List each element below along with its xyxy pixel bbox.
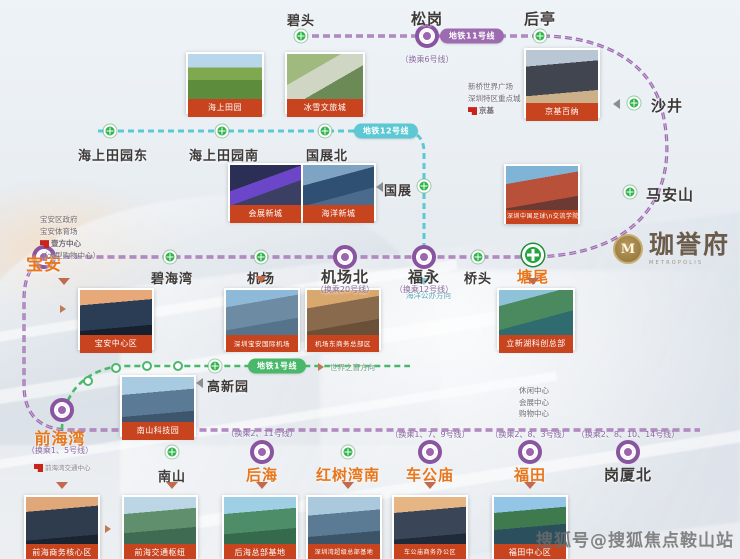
photo-caption: 京基百纳	[526, 103, 598, 121]
line-badge-1: 地铁1号线	[248, 359, 306, 374]
annotation-baoan-poi: 宝安区政府 宝安体育场 壹方中心 （大型购物中心）	[40, 214, 100, 262]
photo-card-baoan-zhongxinqu[interactable]: 宝安中心区	[78, 288, 154, 350]
shajing-arrow-icon	[613, 99, 620, 109]
poi-flag-icon	[34, 464, 43, 472]
station-futian[interactable]	[518, 440, 542, 464]
project-logo: M 珈誉府 METROPOLIS	[613, 232, 730, 266]
photo-caption: 宝安中心区	[80, 335, 152, 353]
poi-sub: （大型购物中心）	[40, 251, 100, 260]
photo-card-jingji-baihuo[interactable]: 京基百纳	[524, 48, 600, 118]
photo-caption: 立新湖科创总部	[499, 335, 573, 353]
photo-card-jichangdong-biz[interactable]: 机场东商务总部区	[305, 288, 381, 350]
line-badge-12: 地铁12号线	[354, 124, 418, 139]
station-houting[interactable]	[534, 30, 547, 43]
station-label-gangxiabei: 岗厦北	[604, 464, 652, 485]
station-label-houting: 后亭	[524, 8, 556, 29]
direction-arrow-line1	[318, 363, 324, 371]
photo-card-qianhai-hub[interactable]: 前海交通枢纽	[122, 495, 198, 559]
photo-card-haishang-tianyuan[interactable]: 海上田园	[186, 52, 264, 114]
pointer-arrow-jichang	[255, 276, 267, 283]
annotation-line: 会展中心	[519, 397, 549, 409]
poi-name: 京基	[479, 105, 494, 117]
logo-name-zh: 珈誉府	[649, 232, 730, 257]
photo-caption: 后海总部基地	[224, 544, 296, 559]
photo-card-baoan-airport[interactable]: 深圳宝安国际机场	[224, 288, 300, 350]
station-gangxiabei[interactable]	[616, 440, 640, 464]
station-sub-chegongmiao: （换乘1、7、9号线）	[390, 429, 469, 440]
station-haishang-tianyuan-dong[interactable]	[104, 125, 117, 138]
station-shajing[interactable]	[628, 97, 641, 110]
pointer-arrow-baoan	[58, 278, 70, 285]
station-tangwei[interactable]	[522, 244, 544, 266]
photo-caption: 冰雪文旅城	[287, 99, 363, 117]
poi-name: 前海湾交通中心	[45, 463, 91, 473]
station-sub-qianhaiwan: （换乘1、5号线）	[27, 445, 93, 456]
line-badge-11: 地铁11号线	[440, 29, 504, 44]
pointer-arrow-futian	[524, 482, 536, 489]
logo-name-en: METROPOLIS	[649, 260, 730, 266]
pointer-arrow-baoan-card	[60, 305, 66, 313]
station-sub-futian: （换乘2、8、3号线）	[490, 429, 569, 440]
photo-card-bingxue-wenlvcheng[interactable]: 冰雪文旅城	[285, 52, 365, 114]
pointer-arrow-qianhai-cbd	[105, 525, 111, 533]
photo-card-nanshan-keji[interactable]: 南山科技园	[120, 375, 196, 437]
annotation-line: 深圳特区重点城	[468, 93, 521, 105]
station-label-shajing: 沙井	[651, 95, 683, 116]
station-sub-jichangbei: （换乘20号线）	[316, 284, 374, 295]
photo-card-chegongmiao-biz[interactable]: 车公庙商务办公区	[392, 495, 468, 559]
photo-caption: 机场东商务总部区	[307, 335, 379, 352]
station-sub-gangxiabei: （换乘2、8、10、14号线）	[577, 429, 680, 440]
photo-caption: 前海交通枢纽	[124, 544, 196, 559]
station-label-gaoxinyuan: 高新园	[207, 376, 249, 395]
annotation-qianhaiwan-poi: 前海湾交通中心	[34, 462, 91, 473]
photo-card-fenghuang-tiyu[interactable]: 深圳中国足球\n交流学院	[504, 164, 580, 224]
station-bihaiwan[interactable]	[164, 251, 177, 264]
pointer-arrow-hongshuwannan	[342, 482, 354, 489]
station-label-maanshan: 马安山	[646, 184, 694, 205]
station-hongshuwannan[interactable]	[342, 446, 355, 459]
station-guozhanbei[interactable]	[319, 125, 332, 138]
station-houhai[interactable]	[250, 440, 274, 464]
photo-card-shenzhenbay-hq[interactable]: 深圳湾超级总部基地	[306, 495, 382, 559]
annotation-line: 宝安体育场	[40, 226, 100, 238]
photo-caption: 深圳湾超级总部基地	[308, 544, 380, 559]
annotation-line: 宝安区政府	[40, 214, 100, 226]
station-nanshan[interactable]	[166, 446, 179, 459]
photo-caption: 前海商务核心区	[26, 544, 98, 559]
station-guozhan[interactable]	[418, 180, 431, 193]
pointer-arrow-nanshan	[166, 482, 178, 489]
annotation-line: 购物中心	[519, 408, 549, 420]
logo-seal-icon: M	[613, 234, 643, 264]
watermark: 搜狐号@搜狐焦点鞍山站	[536, 526, 734, 551]
station-qianhaiwan[interactable]	[50, 398, 74, 422]
direction-note-line1: 世界之窗方向	[330, 362, 375, 373]
pointer-arrow-qianhaiwan	[56, 482, 68, 489]
annotation-line: 休闲中心	[519, 385, 549, 397]
annotation-xinqiao-poi: 新桥世界广场 深圳特区重点城 京基	[468, 81, 521, 117]
photo-caption: 南山科技园	[122, 422, 194, 440]
station-label-biyatou: 碧头	[287, 10, 315, 29]
annotation-line: 新桥世界广场	[468, 81, 521, 93]
photo-card-huizhan-haiyang[interactable]: 会展新城 海洋新城	[228, 163, 376, 221]
station-label-guozhan: 国展	[384, 180, 412, 199]
photo-card-houhai-hq[interactable]: 后海总部基地	[222, 495, 298, 559]
photo-caption: 深圳宝安国际机场	[226, 335, 298, 352]
station-label-haishang-tianyuan-dong: 海上田园东	[78, 145, 148, 164]
photo-caption: 会展新城	[230, 205, 301, 223]
poi-flag-icon	[468, 107, 477, 115]
station-sub-houhai: （换乘2、11号线）	[226, 428, 297, 439]
photo-caption: 车公庙商务办公区	[394, 544, 466, 559]
photo-caption: 海上田园	[188, 99, 262, 117]
station-biyatou[interactable]	[295, 30, 308, 43]
pointer-arrow-tangwei	[527, 278, 539, 285]
guozhan-arrow-icon	[376, 182, 383, 192]
station-label-guozhanbei: 国展北	[306, 145, 348, 164]
photo-caption: 深圳中国足球\n交流学院	[506, 210, 578, 224]
station-label-songgang: 松岗	[411, 8, 443, 29]
photo-card-qianhai-cbd[interactable]: 前海商务核心区	[24, 495, 100, 559]
station-maanshan[interactable]	[624, 186, 637, 199]
photo-card-lixinhu-kechuang[interactable]: 立新湖科创总部	[497, 288, 575, 350]
metro-map: 地铁11号线 地铁12号线 地铁1号线 世界之窗方向 海洋公办方向 碧头 松岗 …	[0, 0, 740, 559]
station-sub-fuyong: （换乘12号线）	[395, 284, 453, 295]
station-label-bihaiwan: 碧海湾	[151, 268, 193, 287]
station-jichang[interactable]	[255, 251, 268, 264]
pointer-arrow-houhai	[256, 482, 268, 489]
annotation-futian-poi: 休闲中心 会展中心 购物中心	[519, 385, 549, 420]
station-haishang-tianyuan-nan[interactable]	[216, 125, 229, 138]
station-label-qiaotou: 桥头	[464, 268, 492, 287]
station-sub-songgang: （换乘6号线）	[400, 54, 453, 65]
gaoxinyuan-arrow-icon	[196, 378, 203, 388]
poi-name: 壹方中心	[51, 238, 81, 250]
station-gaoxinyuan[interactable]	[209, 360, 222, 373]
pointer-arrow-chegongmiao	[424, 482, 436, 489]
poi-flag-icon	[40, 240, 49, 248]
photo-caption: 海洋新城	[303, 205, 374, 223]
station-qiaotou[interactable]	[472, 251, 485, 264]
station-chegongmiao[interactable]	[418, 440, 442, 464]
station-label-haishang-tianyuan-nan: 海上田园南	[189, 145, 259, 164]
